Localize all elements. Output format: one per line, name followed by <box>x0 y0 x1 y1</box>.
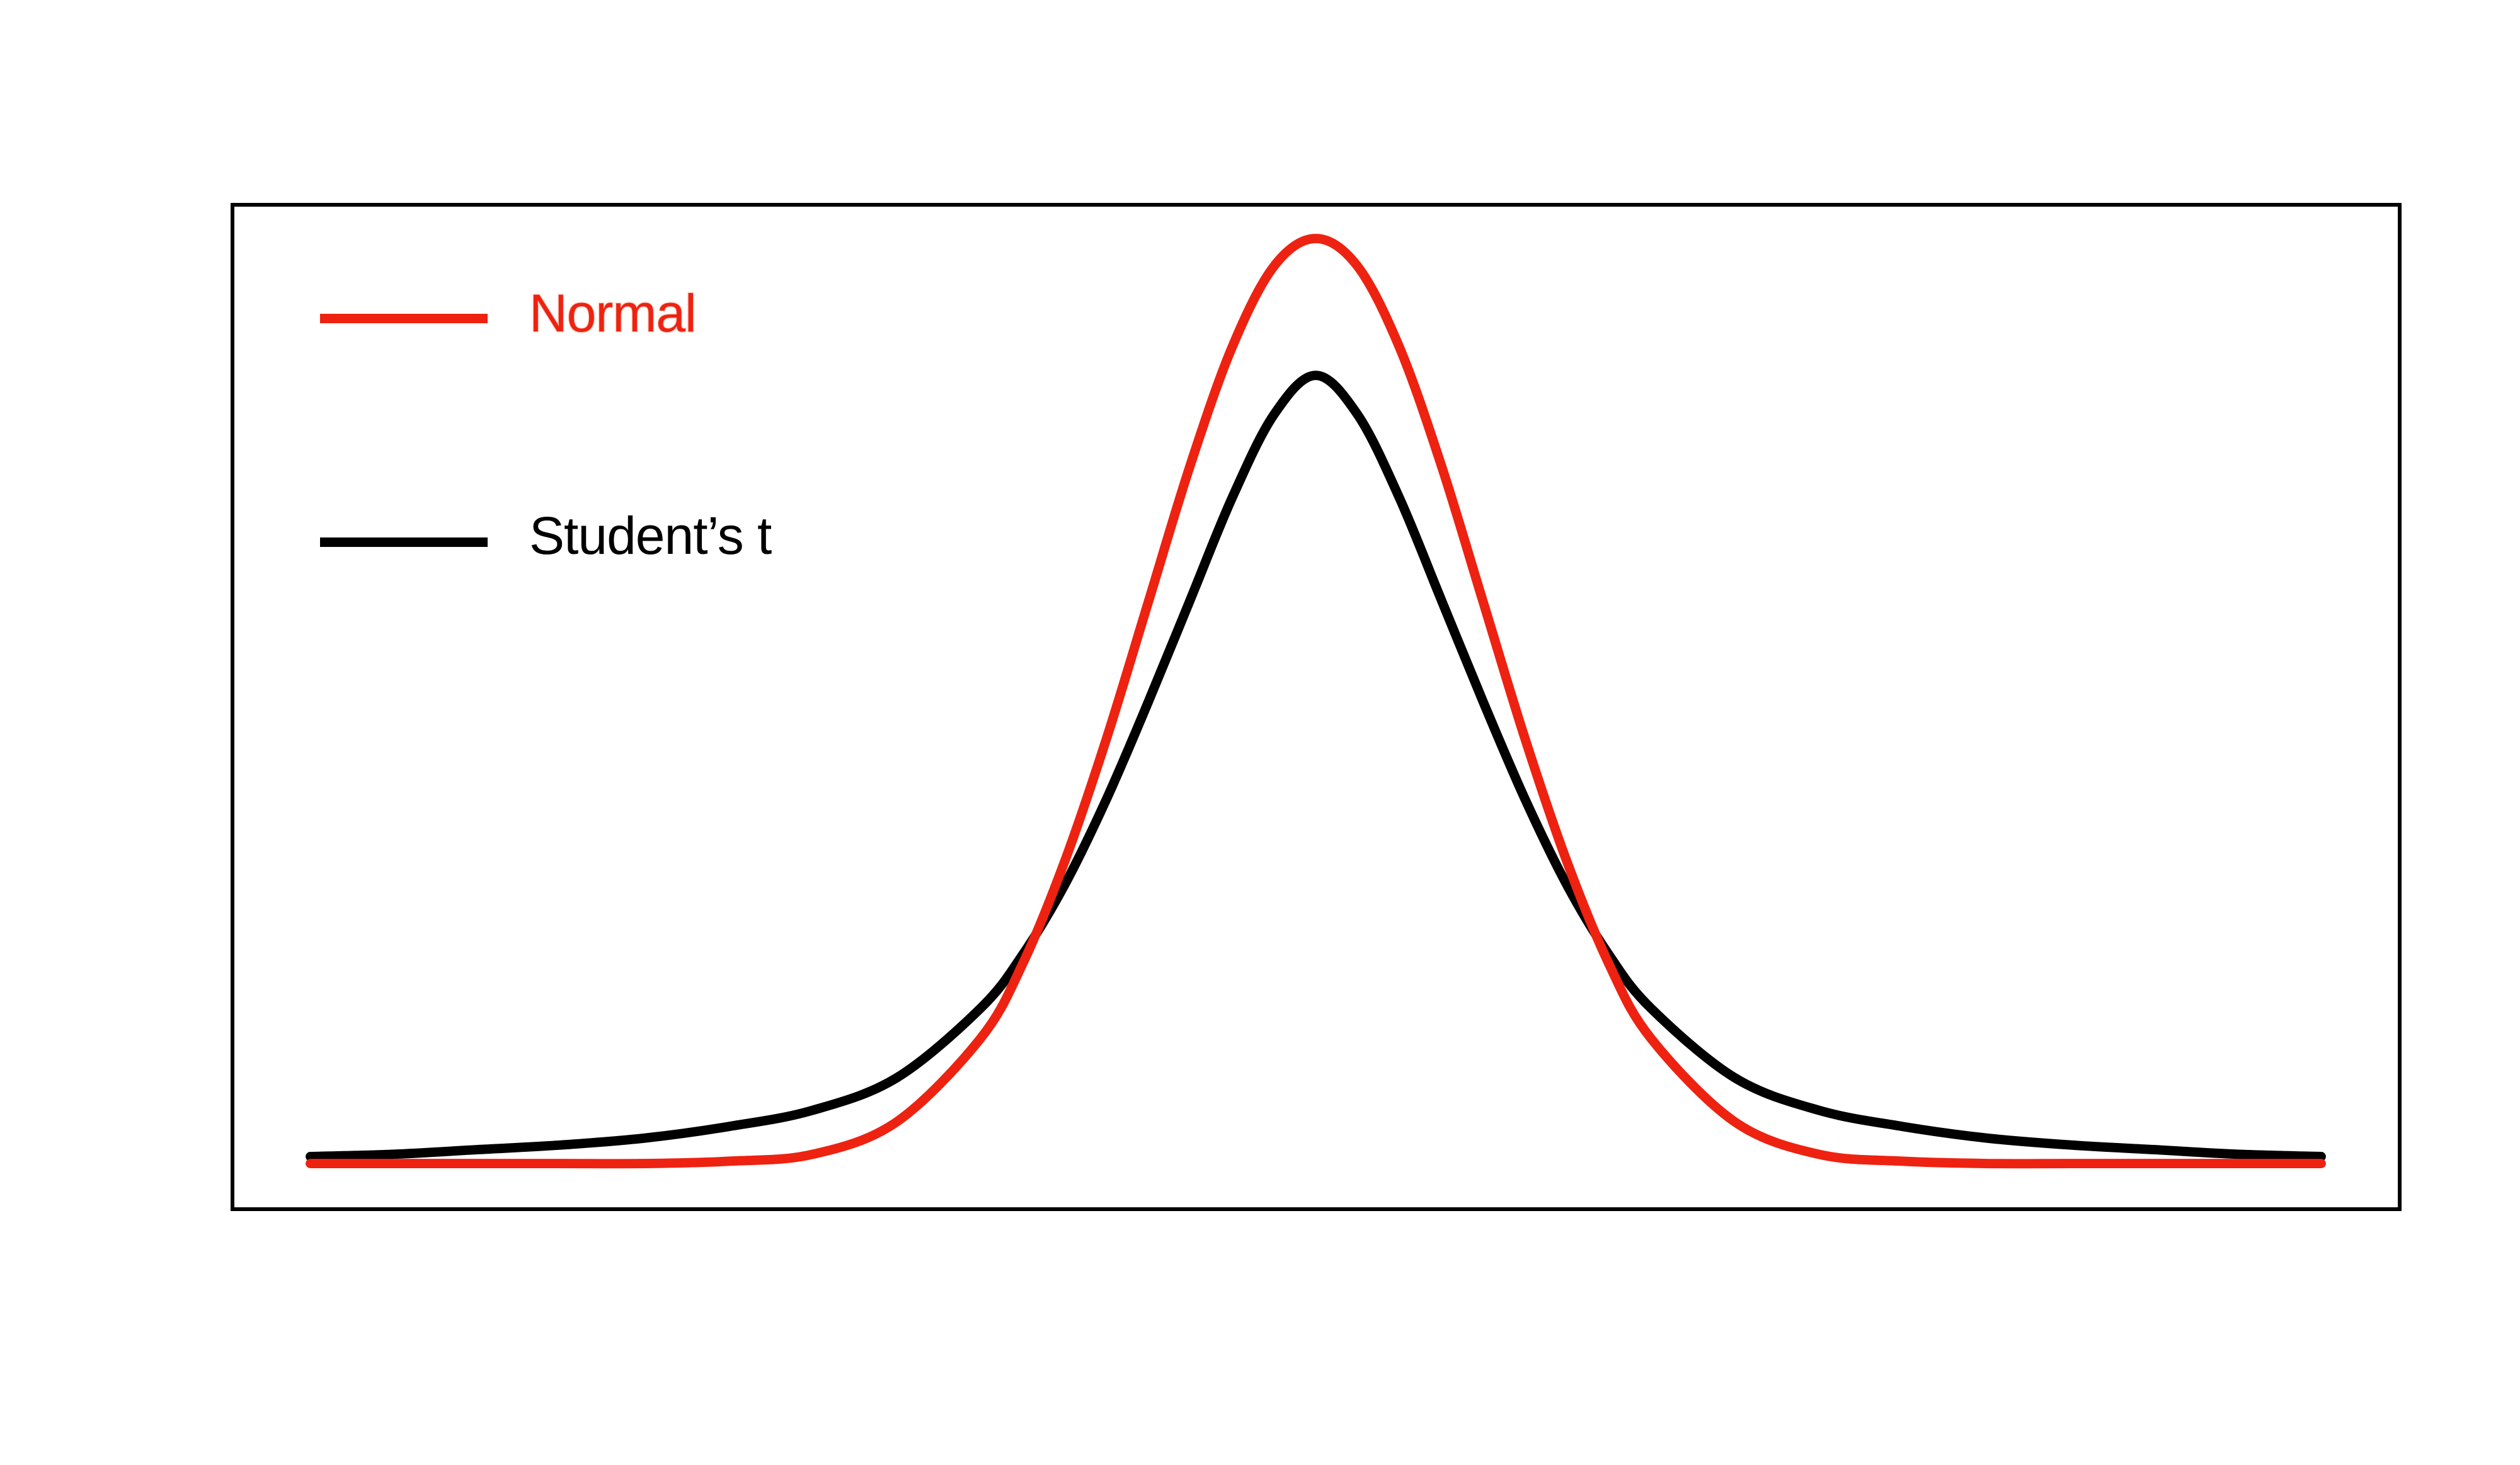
legend-swatch-students-t <box>320 537 488 547</box>
legend-swatch-normal <box>320 314 488 323</box>
legend: Normal Student’s t <box>320 287 950 511</box>
legend-label-students-t: Student’s t <box>529 509 771 562</box>
legend-entry-students-t: Student’s t <box>320 399 950 511</box>
figure-canvas: Normal Student’s t <box>0 0 2520 1465</box>
legend-entry-normal: Normal <box>320 287 950 399</box>
legend-label-normal: Normal <box>529 287 696 340</box>
